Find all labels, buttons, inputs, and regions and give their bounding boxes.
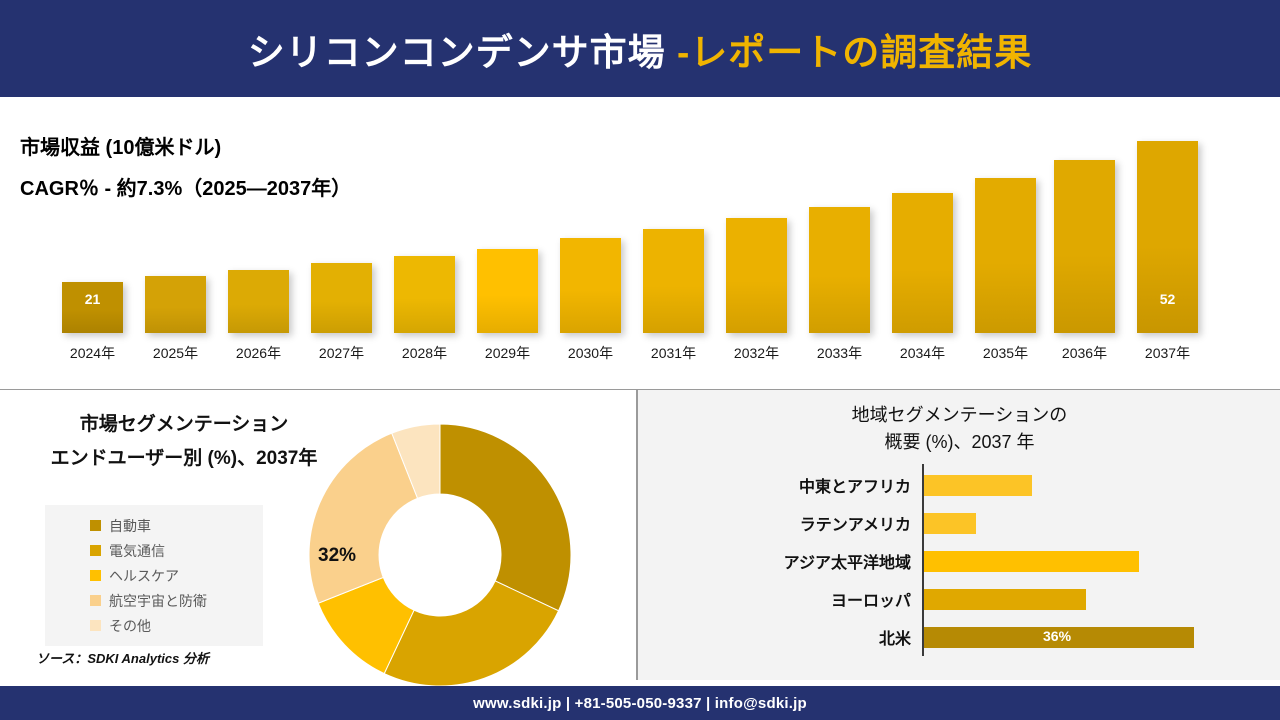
segmentation-title-line1: 市場セグメンテーション (34, 408, 334, 442)
legend-item-label: その他 (109, 616, 151, 636)
legend-item[interactable]: 自動車 (45, 513, 263, 538)
revenue-bar-label: 2031年 (634, 333, 713, 363)
revenue-bar-label: 2024年 (53, 333, 132, 363)
revenue-bar (145, 276, 206, 333)
revenue-bar (1054, 160, 1115, 333)
revenue-bar-group: 2032年 (726, 218, 787, 333)
revenue-bar-label: 2032年 (717, 333, 796, 363)
legend-item[interactable]: 航空宇宙と防衛 (45, 588, 263, 613)
revenue-bar-group: 522037年 (1137, 141, 1198, 333)
revenue-bar-group: 2031年 (643, 229, 704, 333)
regional-title-line2: 概要 (%)、2037 年 (638, 429, 1280, 456)
revenue-bar-label: 2029年 (468, 333, 547, 363)
legend-item[interactable]: ヘルスケア (45, 563, 263, 588)
revenue-bar (643, 229, 704, 333)
regional-bar-label: ラテンアメリカ (800, 511, 911, 535)
revenue-bar-label: 2034年 (883, 333, 962, 363)
segmentation-title: 市場セグメンテーション エンドユーザー別 (%)、2037年 (34, 408, 334, 476)
source-note: ソース：SDKI Analytics 分析 (36, 648, 209, 667)
revenue-bar (560, 238, 621, 333)
regional-title-line1: 地域セグメンテーションの (638, 402, 1280, 429)
header-banner: シリコンコンデンサ市場 -レポートの調査結果 (0, 0, 1280, 97)
regional-bar-label: 北米 (879, 625, 911, 649)
page-title-main: シリコンコンデンサ市場 (248, 32, 677, 73)
revenue-bar (477, 249, 538, 333)
regional-bar-label: ヨーロッパ (831, 587, 911, 611)
regional-bar-group: アジア太平洋地域 (638, 542, 1280, 580)
legend-swatch-icon (90, 570, 101, 581)
revenue-bar-label: 2028年 (385, 333, 464, 363)
revenue-bar-label: 2026年 (219, 333, 298, 363)
revenue-bar-group: 2026年 (228, 270, 289, 333)
revenue-bar (975, 178, 1036, 333)
legend-swatch-icon (90, 545, 101, 556)
regional-bar-value: 36% (1043, 628, 1071, 644)
footer-banner: www.sdki.jp | +81-505-050-9337 | info@sd… (0, 686, 1280, 720)
legend-item[interactable]: その他 (45, 613, 263, 638)
revenue-bar-label: 2025年 (136, 333, 215, 363)
segmentation-title-line2: エンドユーザー別 (%)、2037年 (34, 442, 334, 476)
revenue-bar-label: 2037年 (1128, 333, 1207, 363)
revenue-bar-label: 2036年 (1045, 333, 1124, 363)
regional-title: 地域セグメンテーションの 概要 (%)、2037 年 (638, 402, 1280, 456)
revenue-bar (726, 218, 787, 333)
legend-item-label: 航空宇宙と防衛 (109, 591, 207, 611)
revenue-bar-value: 52 (1137, 291, 1198, 307)
regional-bar-group: ヨーロッパ (638, 580, 1280, 618)
regional-bar-label: 中東とアフリカ (799, 473, 911, 497)
revenue-bar-group: 2025年 (145, 276, 206, 333)
revenue-bar-group: 2027年 (311, 263, 372, 333)
legend-swatch-icon (90, 520, 101, 531)
market-segmentation-panel: 市場セグメンテーション エンドユーザー別 (%)、2037年 自動車電気通信ヘル… (0, 390, 637, 680)
revenue-bar-label: 2035年 (966, 333, 1045, 363)
revenue-bar-group: 2034年 (892, 193, 953, 333)
page-title: シリコンコンデンサ市場 -レポートの調査結果 (248, 22, 1033, 76)
revenue-bar-group: 2036年 (1054, 160, 1115, 333)
revenue-bar-chart: 212024年2025年2026年2027年2028年2029年2030年203… (0, 97, 1280, 389)
regional-bar (924, 475, 1032, 496)
revenue-bar-label: 2033年 (800, 333, 879, 363)
donut-slice[interactable] (440, 424, 571, 611)
revenue-bar (892, 193, 953, 333)
regional-bar-group: 中東とアフリカ (638, 466, 1280, 504)
market-revenue-panel: 市場収益 (10億米ドル) CAGR％ - 約7.3%（2025―2037年） … (0, 97, 1280, 390)
donut-highlight-label: 32% (318, 545, 356, 567)
legend-item[interactable]: 電気通信 (45, 538, 263, 563)
legend-swatch-icon (90, 620, 101, 631)
legend-item-label: 自動車 (109, 516, 151, 536)
regional-bar (924, 513, 976, 534)
regional-segmentation-panel: 地域セグメンテーションの 概要 (%)、2037 年 中東とアフリカラテンアメリ… (637, 390, 1280, 680)
regional-bar-group: ラテンアメリカ (638, 504, 1280, 542)
page-title-accent: -レポートの調査結果 (677, 32, 1032, 73)
footer-contact-text: www.sdki.jp | +81-505-050-9337 | info@sd… (473, 695, 807, 712)
legend-swatch-icon (90, 595, 101, 606)
regional-bar (924, 589, 1086, 610)
revenue-bar-group: 2029年 (477, 249, 538, 333)
legend-item-label: ヘルスケア (109, 566, 179, 586)
regional-bar-label: アジア太平洋地域 (784, 549, 911, 573)
revenue-bar-label: 2027年 (302, 333, 381, 363)
segmentation-legend: 自動車電気通信ヘルスケア航空宇宙と防衛その他 (45, 505, 263, 646)
revenue-bar-group: 2030年 (560, 238, 621, 333)
revenue-bar (809, 207, 870, 333)
revenue-bar (62, 282, 123, 333)
regional-bar-group: 北米36% (638, 618, 1280, 656)
revenue-bar-value: 21 (62, 291, 123, 307)
regional-bar (924, 551, 1139, 572)
revenue-bar-group: 2033年 (809, 207, 870, 333)
revenue-bar-group: 212024年 (62, 282, 123, 333)
regional-bar-chart: 中東とアフリカラテンアメリカアジア太平洋地域ヨーロッパ北米36% (638, 464, 1280, 660)
revenue-bar (228, 270, 289, 333)
revenue-bar (394, 256, 455, 333)
revenue-bar-group: 2035年 (975, 178, 1036, 333)
revenue-bar (311, 263, 372, 333)
revenue-bar-group: 2028年 (394, 256, 455, 333)
donut-slice[interactable] (309, 433, 418, 603)
revenue-bar-label: 2030年 (551, 333, 630, 363)
legend-item-label: 電気通信 (109, 541, 165, 561)
